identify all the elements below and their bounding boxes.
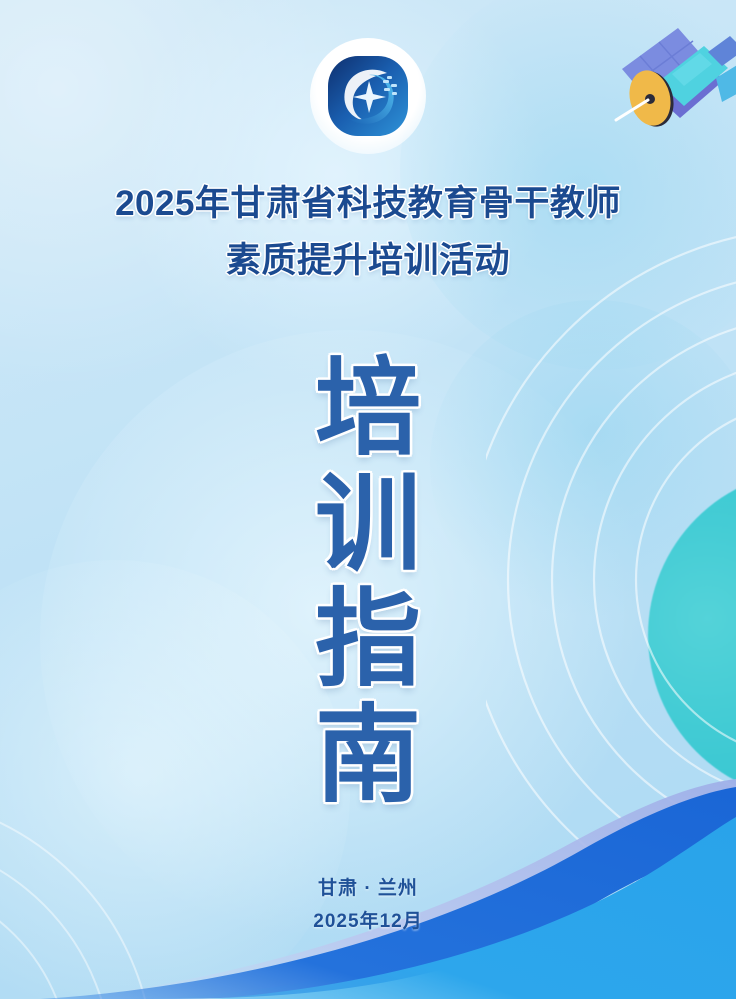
vertical-main-title: 培 训 指 南 xyxy=(0,352,736,814)
footer-date: 2025年12月 xyxy=(0,905,736,938)
footer-location: 甘肃 · 兰州 xyxy=(0,872,736,905)
headline-line-2: 素质提升培训活动 xyxy=(0,233,736,290)
title-char-4: 南 xyxy=(315,699,421,815)
title-char-3: 指 xyxy=(315,583,421,699)
headline-line-1: 2025年甘肃省科技教育骨干教师 xyxy=(0,176,736,233)
poster-headline: 2025年甘肃省科技教育骨干教师 素质提升培训活动 xyxy=(0,176,736,289)
satellite-icon xyxy=(596,16,736,146)
training-guide-poster: 2025年甘肃省科技教育骨干教师 素质提升培训活动 培 训 指 南 甘肃 · 兰… xyxy=(0,0,736,999)
swirl-logo-icon xyxy=(325,53,411,139)
title-char-1: 培 xyxy=(315,352,421,468)
poster-footer: 甘肃 · 兰州 2025年12月 xyxy=(0,872,736,939)
title-char-2: 训 xyxy=(315,468,421,584)
logo-badge xyxy=(310,38,426,154)
